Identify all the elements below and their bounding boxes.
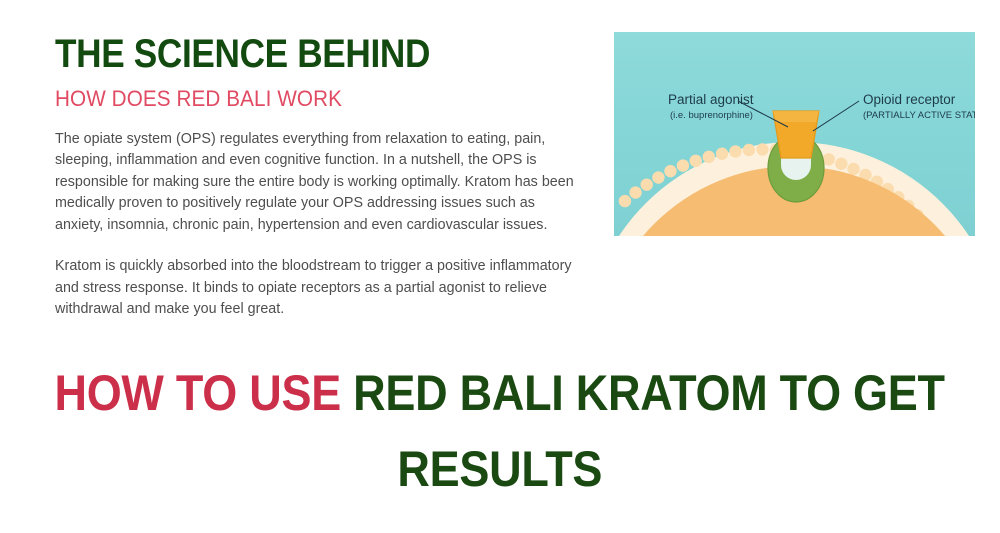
banner-line-2: RESULTS: [398, 431, 603, 507]
banner-line-1-green: RED BALI KRATOM TO GET: [354, 365, 946, 421]
promo-banner: HOW TO USE RED BALI KRATOM TO GET RESULT…: [0, 355, 1000, 515]
opioid-receptor-sublabel: (PARTIALLY ACTIVE STATE): [863, 110, 975, 121]
partial-agonist-label: Partial agonist: [668, 92, 754, 107]
page-title: THE SCIENCE BEHIND: [55, 34, 517, 75]
receptor-diagram-figure: Partial agonist (i.e. buprenorphine) Opi…: [614, 32, 975, 236]
partial-agonist-highlight: [773, 111, 819, 122]
article-paragraph-1: The opiate system (OPS) regulates everyt…: [55, 129, 580, 237]
article-paragraph-2: Kratom is quickly absorbed into the bloo…: [55, 256, 580, 321]
opioid-receptor-label: Opioid receptor: [863, 92, 956, 107]
page-subtitle: HOW DOES RED BALI WORK: [55, 87, 549, 111]
banner-line-2-green: RESULTS: [398, 441, 603, 497]
article-text-column: THE SCIENCE BEHIND HOW DOES RED BALI WOR…: [55, 34, 580, 321]
article-section: THE SCIENCE BEHIND HOW DOES RED BALI WOR…: [0, 0, 1000, 330]
partial-agonist-sublabel: (i.e. buprenorphine): [670, 110, 753, 121]
receptor-diagram-svg: Partial agonist (i.e. buprenorphine) Opi…: [614, 32, 975, 236]
banner-line-1-red: HOW TO USE: [55, 365, 354, 421]
banner-line-1: HOW TO USE RED BALI KRATOM TO GET: [55, 355, 945, 431]
